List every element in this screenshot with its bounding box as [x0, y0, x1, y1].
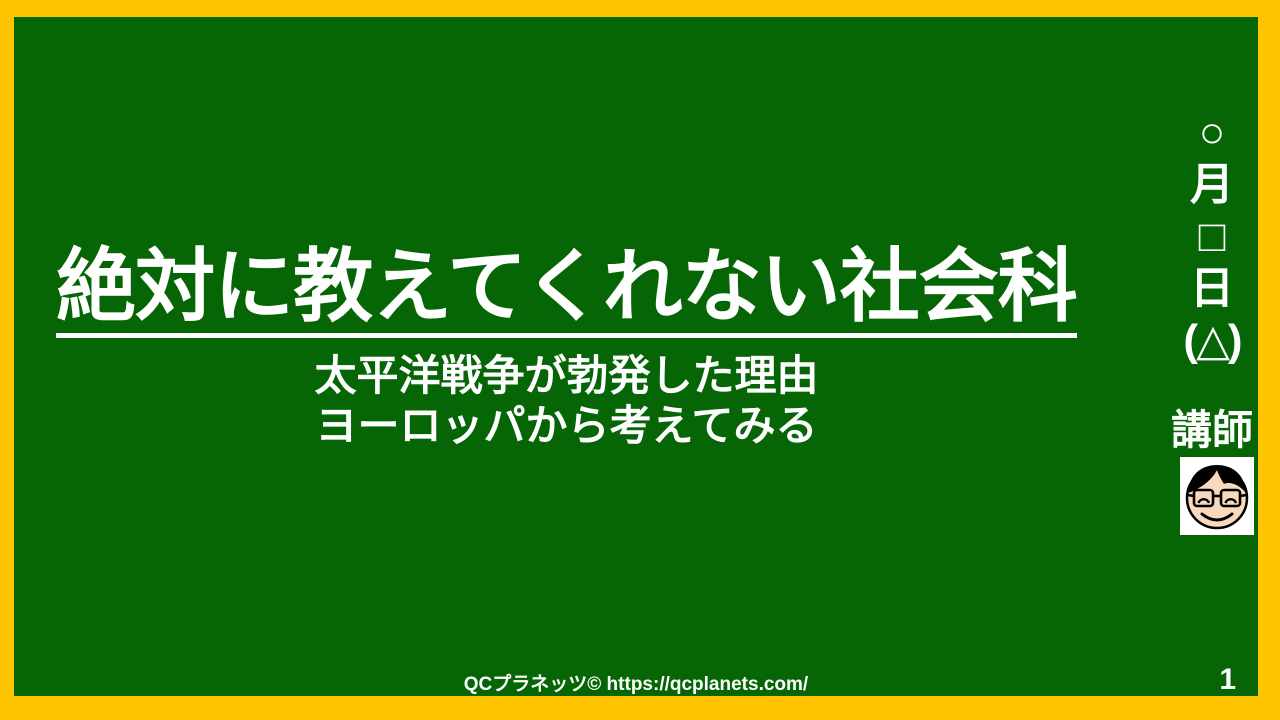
subtitle-line-2: ヨーロッパから考えてみる — [14, 401, 1119, 451]
date-stack: ○ 月 □ 日 (△) — [1152, 107, 1272, 367]
page-title: 絶対に教えてくれない社会科 — [56, 245, 1077, 338]
date-day-placeholder-square: □ — [1152, 211, 1272, 263]
slide-frame: 絶対に教えてくれない社会科 太平洋戦争が勃発した理由 ヨーロッパから考えてみる … — [0, 0, 1280, 720]
instructor-label: 講師 — [1152, 407, 1272, 453]
footer-credit: QCプラネッツ© https://qcplanets.com/ — [14, 669, 1258, 696]
date-month-label: 月 — [1152, 159, 1272, 211]
instructor-avatar — [1180, 457, 1254, 535]
page-number: 1 — [1219, 663, 1236, 697]
title-block: 絶対に教えてくれない社会科 — [14, 245, 1119, 338]
subtitle-block: 太平洋戦争が勃発した理由 ヨーロッパから考えてみる — [14, 351, 1119, 451]
face-icon — [1180, 457, 1254, 535]
subtitle-line-1: 太平洋戦争が勃発した理由 — [14, 351, 1119, 401]
side-rail: ○ 月 □ 日 (△) 講師 — [1152, 17, 1272, 696]
date-weekday-placeholder-triangle: (△) — [1152, 315, 1272, 367]
date-month-placeholder-circle: ○ — [1152, 107, 1272, 159]
chalkboard-background: 絶対に教えてくれない社会科 太平洋戦争が勃発した理由 ヨーロッパから考えてみる … — [14, 17, 1258, 696]
date-day-label: 日 — [1152, 263, 1272, 315]
